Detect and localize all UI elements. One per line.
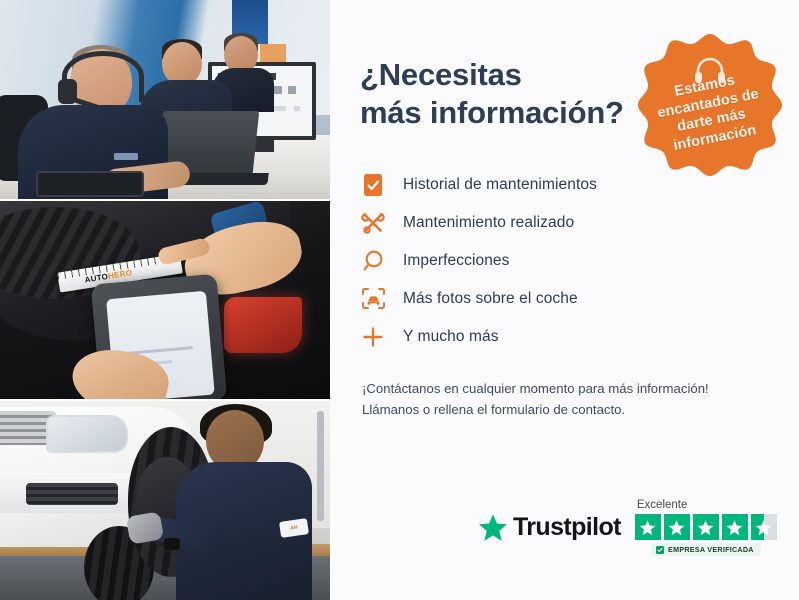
trustpilot-star-icon: [478, 513, 508, 542]
star-filled: [664, 514, 690, 540]
magnifier-icon: [360, 248, 386, 274]
verified-company-badge: EMPRESA VERIFICADA: [651, 543, 761, 556]
feature-label: Y mucho más: [403, 328, 499, 346]
trustpilot-block[interactable]: Trustpilot Excelente: [478, 499, 777, 556]
technician-wheel-photo: AH: [0, 399, 330, 600]
feature-item-maintenance-done: Mantenimiento realizado: [360, 204, 773, 242]
feature-label: Historial de mantenimientos: [403, 176, 597, 194]
star-filled: [635, 514, 661, 540]
star-filled: [693, 514, 719, 540]
feature-label: Más fotos sobre el coche: [403, 290, 578, 308]
workshop-technician: AH: [172, 410, 312, 600]
car-inspection-ruler-photo: AUTOHERO: [0, 199, 330, 400]
feature-item-more-photos: Más fotos sobre el coche: [360, 280, 773, 318]
star-rating: [635, 514, 777, 540]
star-filled: [722, 514, 748, 540]
feature-label: Imperfecciones: [403, 252, 510, 270]
feature-list: Historial de mantenimientos Mantenimient…: [360, 166, 773, 356]
page-title: ¿Necesitas más información?: [360, 56, 660, 132]
star-half: [751, 514, 777, 540]
call-center-agent-photo: [0, 0, 330, 199]
plus-icon: [360, 324, 386, 350]
contact-line-1: ¡Contáctanos en cualquier momento para m…: [362, 378, 773, 400]
headline-line-2: más información?: [360, 94, 660, 132]
desk-tablet: [36, 171, 144, 197]
wrist-watch: [164, 538, 180, 550]
photo-collage: AUTOHERO: [0, 0, 330, 600]
content-panel: ¿Necesitas más información? Estamos enca…: [330, 0, 799, 600]
bumper-vent: [26, 483, 118, 505]
trustpilot-rating: Excelente: [635, 499, 777, 556]
car-viewfinder-icon: [360, 286, 386, 312]
crossed-tools-icon: [360, 210, 386, 236]
checklist-document-icon: [360, 172, 386, 198]
wall-pipe: [317, 411, 324, 521]
car-headlight: [46, 415, 128, 453]
tail-light: [224, 297, 302, 353]
rating-label: Excelente: [637, 499, 688, 511]
trustpilot-logo[interactable]: Trustpilot: [478, 513, 621, 542]
contact-paragraph: ¡Contáctanos en cualquier momento para m…: [362, 378, 773, 422]
trustpilot-wordmark: Trustpilot: [513, 513, 621, 542]
headline-line-1: ¿Necesitas: [360, 57, 522, 92]
verified-check-icon: [656, 546, 664, 554]
contact-line-2: Llámanos o rellena el formulario de cont…: [362, 399, 773, 421]
feature-item-imperfections: Imperfecciones: [360, 242, 773, 280]
verified-label: EMPRESA VERIFICADA: [668, 545, 754, 554]
feature-item-much-more: Y mucho más: [360, 318, 773, 356]
promo-badge: Estamos encantados de darte más informac…: [634, 31, 786, 183]
feature-label: Mantenimiento realizado: [403, 214, 574, 232]
information-banner: AUTOHERO: [0, 0, 799, 600]
